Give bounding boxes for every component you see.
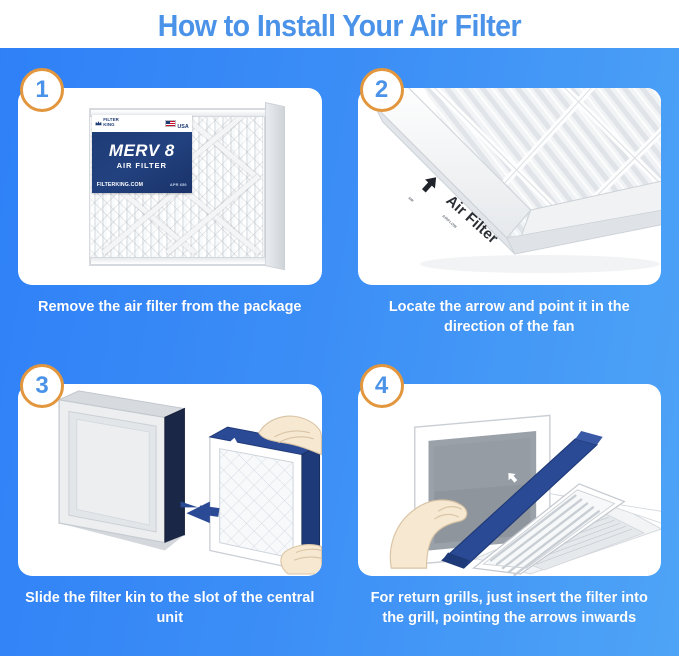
step-number-badge-3: 3 [20, 364, 64, 408]
central-unit-slot [59, 391, 184, 551]
step-caption-2: Locate the arrow and point it in the dir… [364, 298, 654, 337]
filter-depth-side [265, 102, 285, 270]
brand-website: FILTERKING.COM [97, 182, 143, 188]
filter-corner-illustration [358, 88, 662, 285]
made-in-usa-badge: MADE IN USA [165, 115, 189, 134]
made-in-usa-text: MADE IN USA [177, 115, 188, 134]
steps-grid: 1 [0, 48, 679, 656]
step-caption-4: For return grills, just insert the filte… [364, 589, 654, 628]
air-filter-product-photo: FILTER KING MADE IN USA [18, 88, 322, 285]
step-card-2: AIR Air Filter AIRFLOW [358, 88, 662, 285]
step-number-3: 3 [35, 372, 48, 400]
header-band: How to Install Your Air Filter [0, 0, 679, 48]
step-4: 4 [340, 352, 679, 656]
apr-rating: APR 650 [170, 182, 187, 187]
filter-into-return-grill-illustration [358, 384, 662, 576]
merv-rating: MERV 8 [92, 142, 192, 159]
how-to-install-air-filter-infographic: How to Install Your Air Filter 1 [0, 0, 679, 656]
filter-king-logo: FILTER KING [95, 118, 119, 128]
frame-edge-bottom [90, 257, 266, 265]
slide-filter-into-unit-art [18, 384, 322, 576]
country-label: USA [177, 124, 188, 130]
step-2: 2 [340, 48, 679, 352]
insert-filter-return-grill-art [358, 384, 662, 576]
brand-line-2: KING [103, 123, 119, 128]
step-caption-3: Slide the filter kin to the slot of the … [25, 589, 315, 628]
step-number-4: 4 [375, 372, 388, 400]
step-1: 1 [0, 48, 340, 352]
filter-box: FILTER KING MADE IN USA [89, 102, 285, 272]
label-top-strip: FILTER KING MADE IN USA [92, 115, 192, 132]
brand-text: FILTER KING [103, 118, 119, 128]
step-card-3 [18, 384, 322, 576]
step-number-2: 2 [375, 76, 388, 104]
step-caption-1: Remove the air filter from the package [38, 298, 302, 318]
step-number-1: 1 [35, 76, 48, 104]
filter-into-central-unit-illustration [18, 384, 322, 576]
step-number-badge-2: 2 [360, 68, 404, 112]
filter-corner-airflow-arrow-photo: AIR Air Filter AIRFLOW [358, 88, 662, 285]
step-3: 3 [0, 352, 340, 656]
step-card-1: FILTER KING MADE IN USA [18, 88, 322, 285]
us-flag-icon [165, 120, 176, 127]
product-type: AIR FILTER [92, 162, 192, 170]
page-title: How to Install Your Air Filter [158, 10, 521, 41]
step-number-badge-4: 4 [360, 364, 404, 408]
crown-icon [95, 120, 102, 127]
label-footer: FILTERKING.COM APR 650 [97, 182, 187, 188]
step-card-4 [358, 384, 662, 576]
made-in-label: MADE IN [177, 115, 188, 116]
product-label: FILTER KING MADE IN USA [92, 115, 192, 193]
step-number-badge-1: 1 [20, 68, 64, 112]
